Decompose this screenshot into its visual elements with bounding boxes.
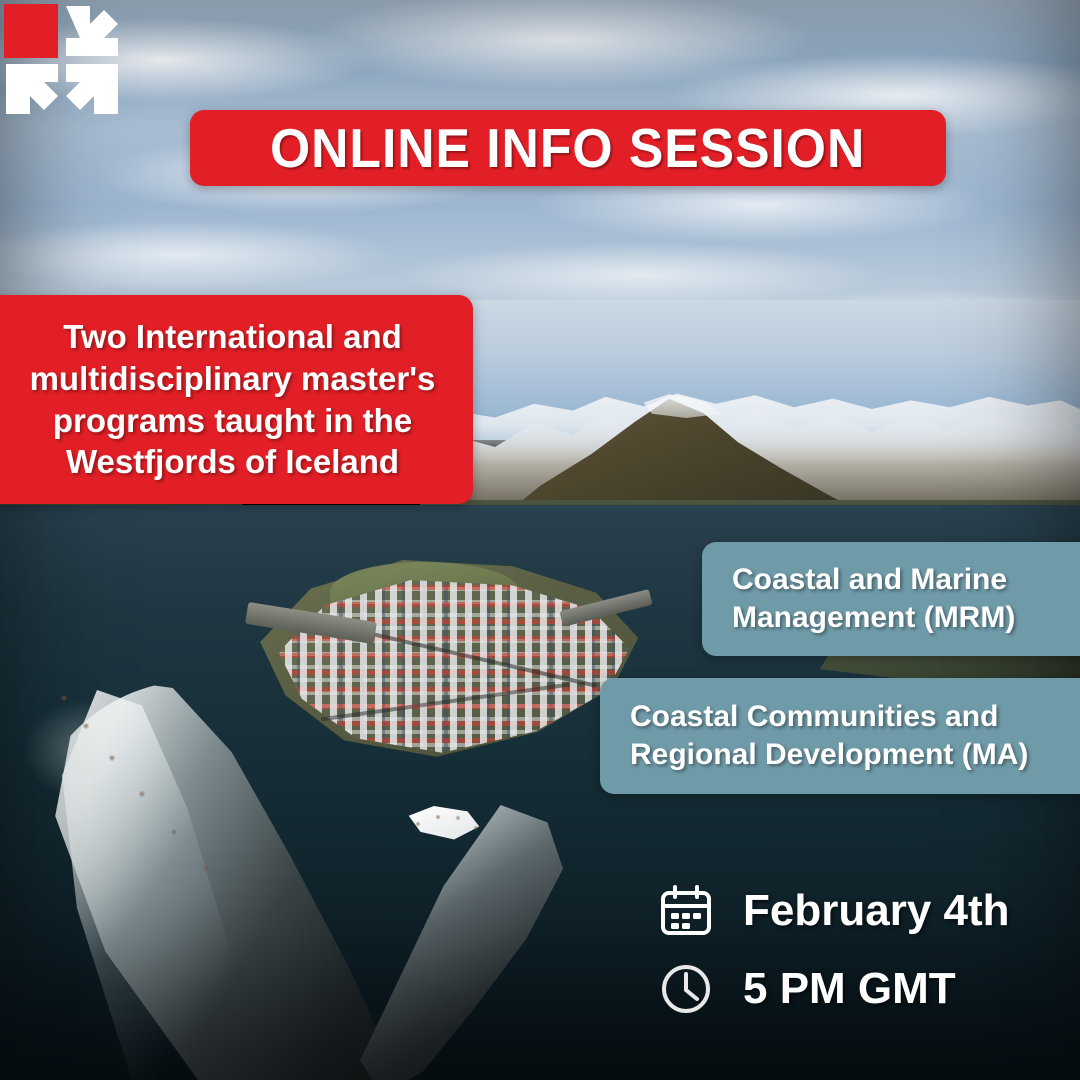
intro-line-2: multidisciplinary master's bbox=[30, 358, 436, 400]
page-title: ONLINE INFO SESSION bbox=[270, 121, 865, 176]
logo-icon bbox=[4, 4, 120, 116]
event-time-label: 5 PM GMT bbox=[743, 964, 956, 1014]
four-inward-arrows-logo[interactable] bbox=[4, 4, 120, 116]
intro-text: Two International and multidisciplinary … bbox=[0, 316, 459, 482]
program-ma-line-1: Coastal Communities and bbox=[630, 698, 1028, 736]
program-ma-line-2: Regional Development (MA) bbox=[630, 736, 1028, 774]
poster-canvas: ONLINE INFO SESSION Two International an… bbox=[0, 0, 1080, 1080]
intro-line-1: Two International and bbox=[30, 316, 436, 358]
program-name-mrm: Coastal and Marine Management (MRM) bbox=[702, 561, 1045, 637]
program-card-ma: Coastal Communities and Regional Develop… bbox=[600, 678, 1080, 794]
calendar-icon bbox=[655, 880, 717, 942]
intro-callout-block: Two International and multidisciplinary … bbox=[0, 295, 473, 504]
clock-icon bbox=[655, 958, 717, 1020]
event-schedule: February 4th 5 PM GMT bbox=[655, 872, 1055, 1028]
program-mrm-line-2: Management (MRM) bbox=[732, 599, 1015, 637]
program-mrm-line-1: Coastal and Marine bbox=[732, 561, 1015, 599]
intro-line-3: programs taught in the bbox=[30, 400, 436, 442]
event-date-row: February 4th bbox=[655, 872, 1055, 950]
event-time-row: 5 PM GMT bbox=[655, 950, 1055, 1028]
intro-line-4: Westfjords of Iceland bbox=[30, 441, 436, 483]
program-card-mrm: Coastal and Marine Management (MRM) bbox=[702, 542, 1080, 656]
online-info-session-banner: ONLINE INFO SESSION bbox=[190, 110, 946, 186]
program-name-ma: Coastal Communities and Regional Develop… bbox=[600, 698, 1058, 774]
event-date-label: February 4th bbox=[743, 886, 1010, 936]
